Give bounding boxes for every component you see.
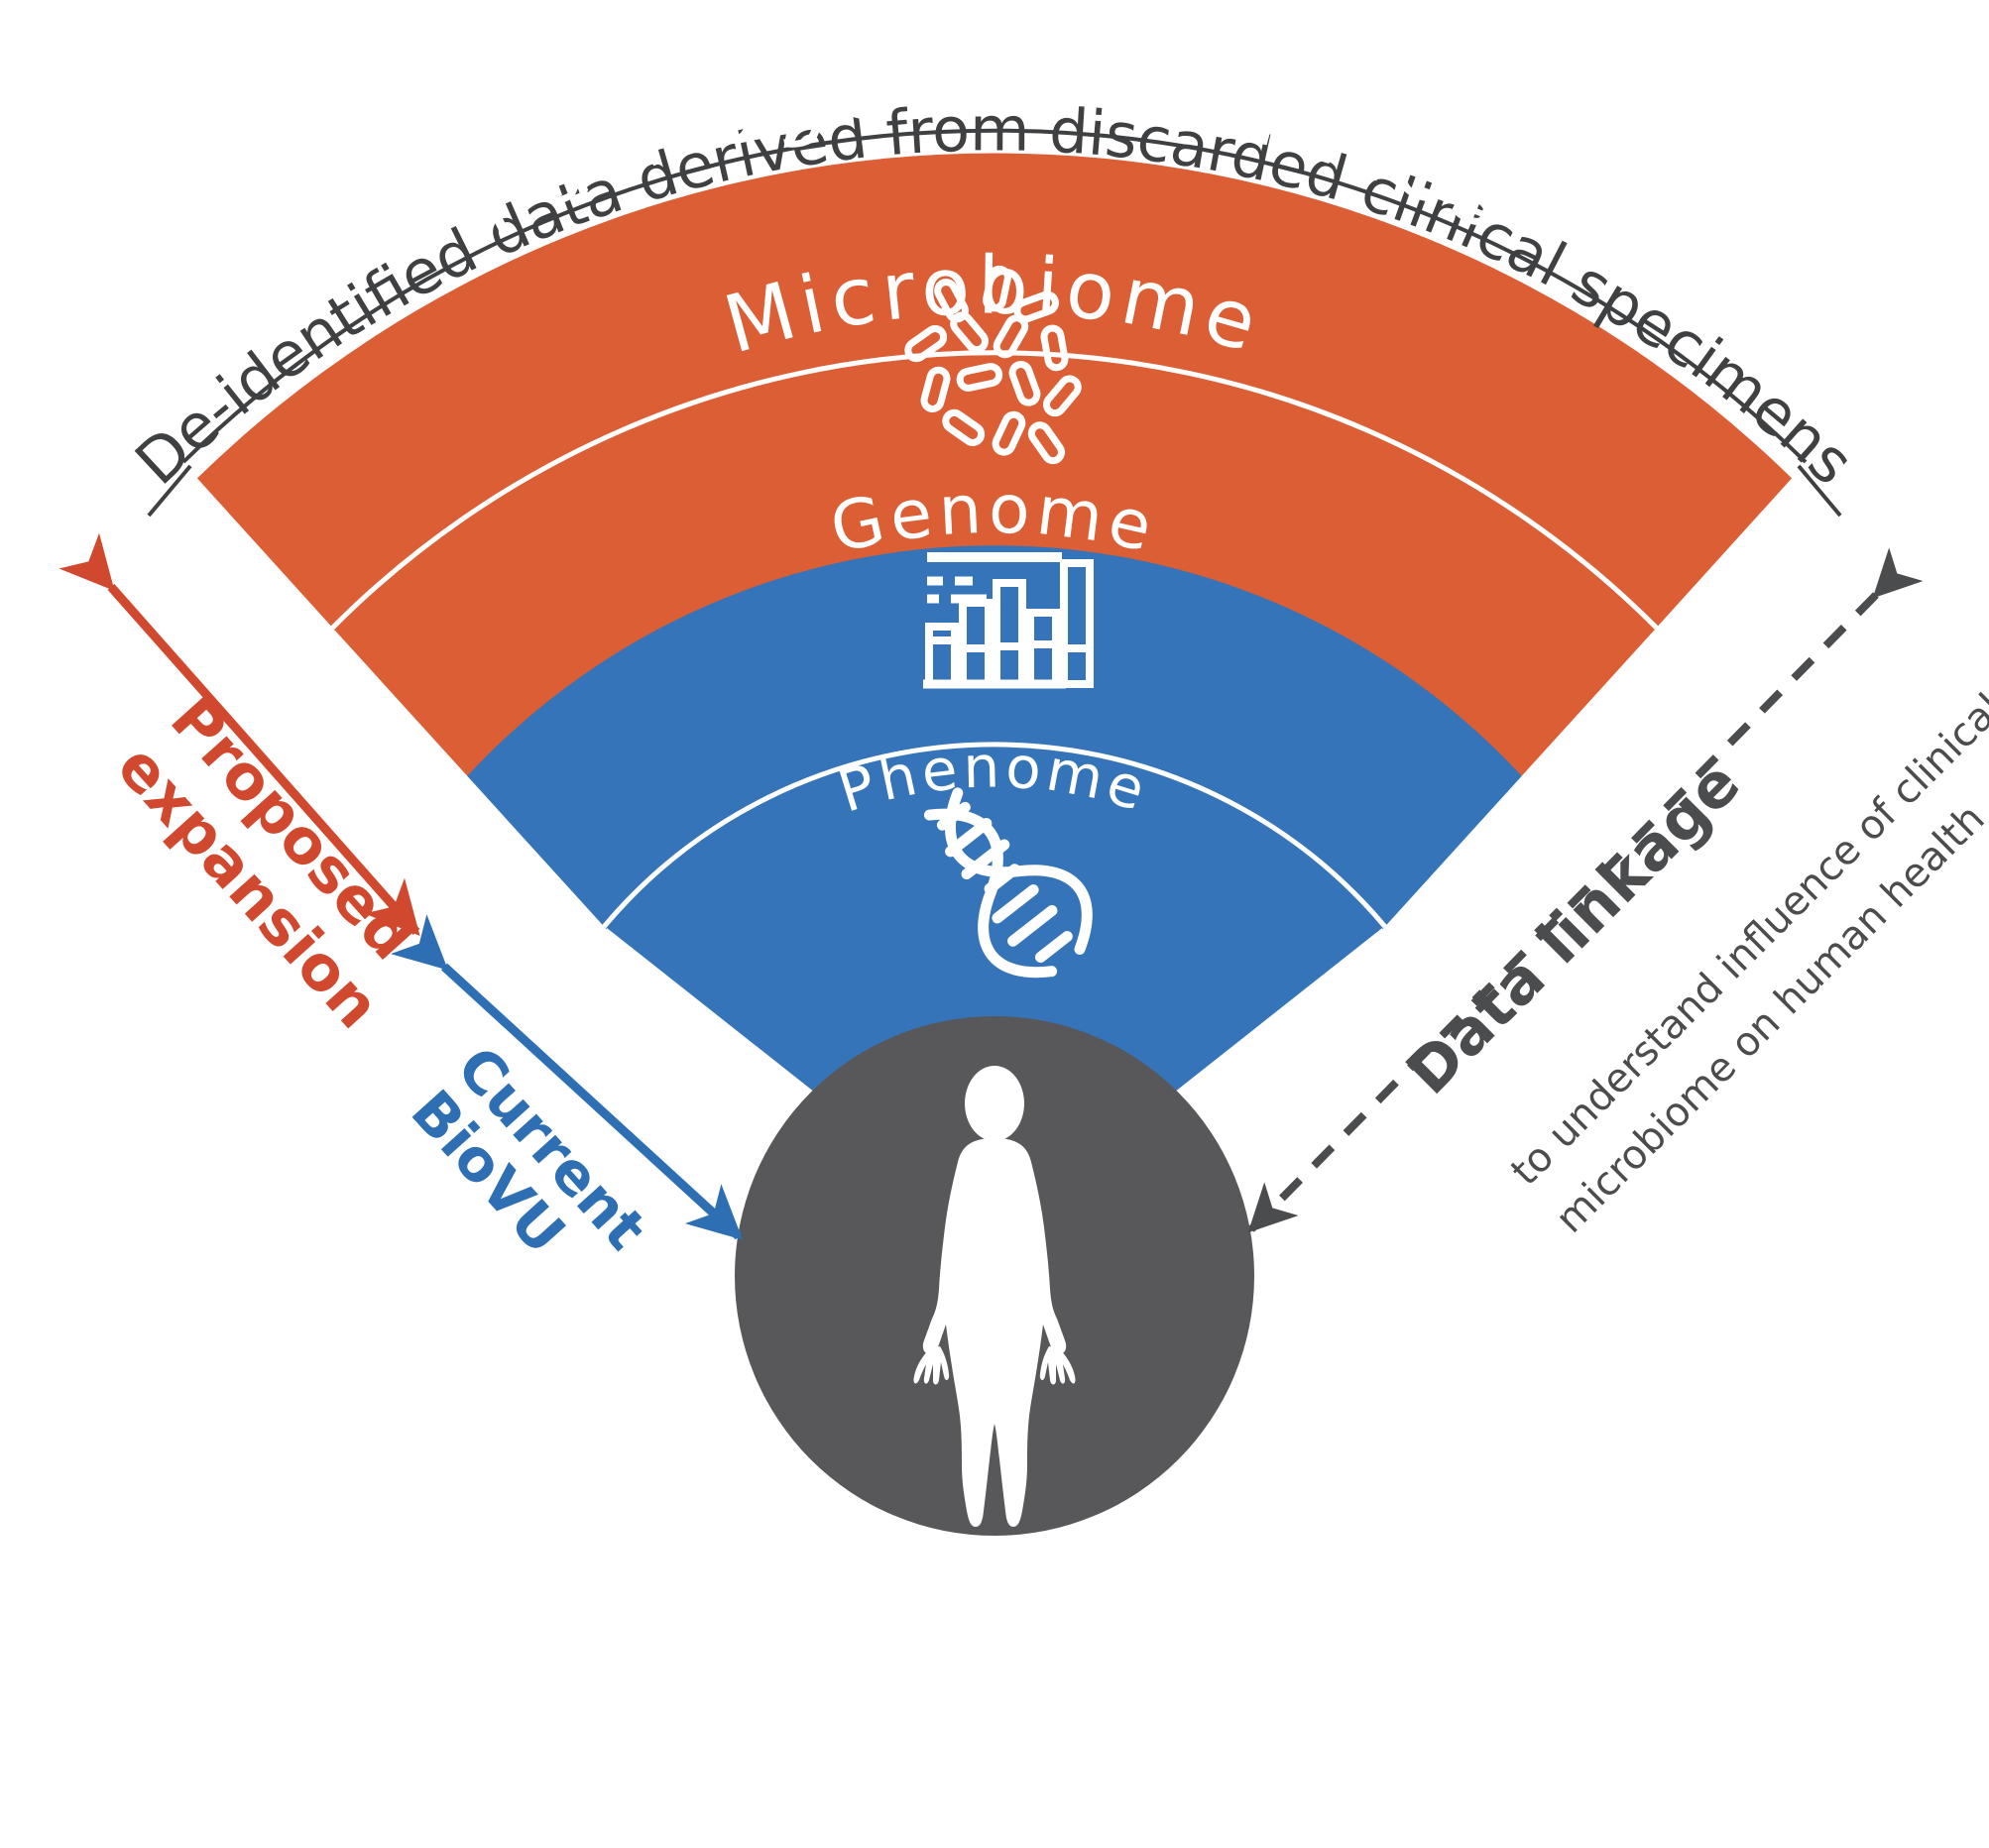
diagram-svg: De-identified data derived from discarde… bbox=[0, 0, 1989, 1848]
current-biovu-annotation[interactable]: Current BioVU bbox=[399, 967, 739, 1267]
composite-human-label: Composite Human bbox=[733, 1598, 1255, 1795]
figure-canvas: De-identified data derived from discarde… bbox=[0, 0, 1989, 1848]
composite-human-node[interactable]: Composite Human bbox=[733, 1016, 1255, 1794]
